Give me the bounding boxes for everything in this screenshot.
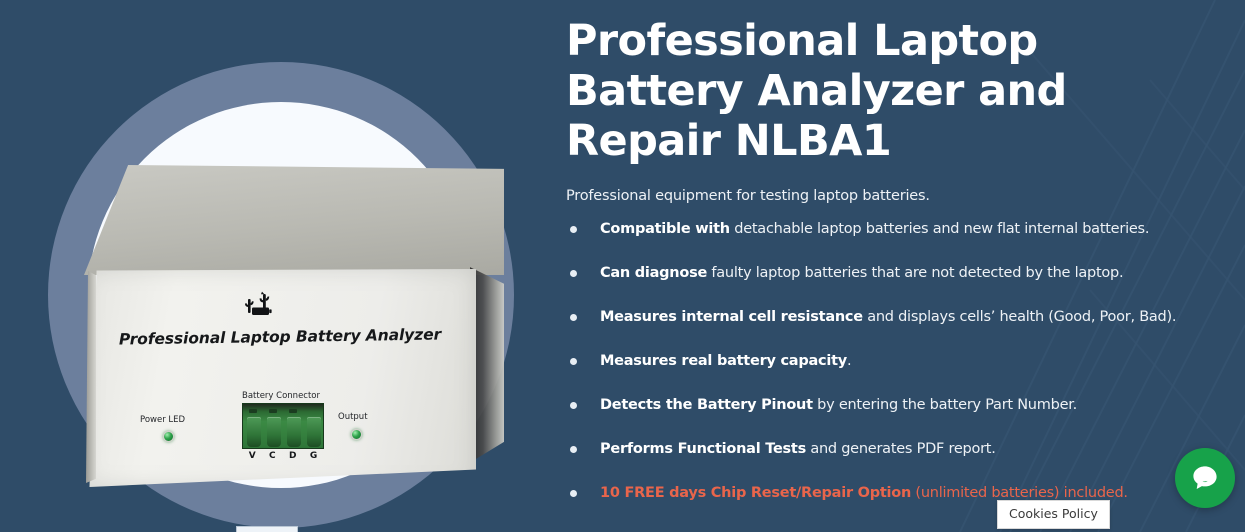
feature-strong-text: Performs Functional Tests xyxy=(600,441,806,457)
bullet-dot-icon xyxy=(570,226,577,233)
bullet-dot-icon xyxy=(570,270,577,277)
feature-rest-text: by entering the battery Part Number. xyxy=(813,397,1077,413)
bullet-dot-icon xyxy=(570,358,577,365)
pin-label-g: G xyxy=(310,451,317,461)
feature-strong-text: Can diagnose xyxy=(600,265,707,281)
bullet-dot-icon xyxy=(570,314,577,321)
product-content-column: Professional Laptop Battery Analyzer and… xyxy=(566,0,1234,532)
page-title: Professional Laptop Battery Analyzer and… xyxy=(566,16,1106,166)
product-intro-text: Professional equipment for testing lapto… xyxy=(566,188,1234,204)
output-led-indicator xyxy=(351,429,362,440)
power-led-indicator xyxy=(163,431,174,442)
feature-rest-text: (unlimited batteries) included. xyxy=(911,485,1128,501)
bullet-dot-icon xyxy=(570,446,577,453)
feature-strong-text: Compatible with xyxy=(600,221,730,237)
feature-list: Compatible with detachable laptop batter… xyxy=(566,220,1234,503)
pin-label-v: V xyxy=(249,451,256,461)
feature-strong-text: Measures internal cell resistance xyxy=(600,309,863,325)
product-hero-page: Professional Laptop Battery Analyzer Pow… xyxy=(0,0,1245,532)
bullet-dot-icon xyxy=(570,402,577,409)
bullet-dot-icon xyxy=(570,490,577,497)
feature-item: 10 FREE days Chip Reset/Repair Option (u… xyxy=(566,484,1234,503)
feature-strong-text: 10 FREE days Chip Reset/Repair Option xyxy=(600,485,911,501)
image-thumbnail-strip[interactable] xyxy=(236,526,298,532)
chat-widget-button[interactable] xyxy=(1175,448,1235,508)
device-top-face xyxy=(84,165,504,275)
cookies-policy-tooltip[interactable]: Cookies Policy xyxy=(997,500,1110,529)
battery-connector-port xyxy=(242,403,324,449)
battery-analyzer-device: Professional Laptop Battery Analyzer Pow… xyxy=(84,165,504,490)
feature-item: Compatible with detachable laptop batter… xyxy=(566,220,1234,239)
feature-rest-text: and generates PDF report. xyxy=(806,441,996,457)
connector-pin-labels: V C D G xyxy=(242,451,324,461)
pin-label-d: D xyxy=(289,451,296,461)
device-left-edge xyxy=(86,271,96,483)
cactus-battery-logo-icon xyxy=(236,291,282,325)
power-led-label: Power LED xyxy=(140,415,185,425)
chat-bubble-icon xyxy=(1190,463,1220,493)
output-label: Output xyxy=(338,412,368,422)
feature-strong-text: Measures real battery capacity xyxy=(600,353,847,369)
feature-item: Performs Functional Tests and generates … xyxy=(566,440,1234,459)
feature-item: Detects the Battery Pinout by entering t… xyxy=(566,396,1234,415)
battery-connector-label: Battery Connector xyxy=(242,391,320,401)
feature-item: Measures real battery capacity. xyxy=(566,352,1234,371)
pin-label-c: C xyxy=(269,451,276,461)
feature-strong-text: Detects the Battery Pinout xyxy=(600,397,813,413)
feature-item: Measures internal cell resistance and di… xyxy=(566,308,1234,327)
product-image-panel[interactable]: Professional Laptop Battery Analyzer Pow… xyxy=(0,0,556,532)
feature-item: Can diagnose faulty laptop batteries tha… xyxy=(566,264,1234,283)
feature-rest-text: . xyxy=(847,353,851,369)
feature-rest-text: and displays cells’ health (Good, Poor, … xyxy=(863,309,1176,325)
feature-rest-text: faulty laptop batteries that are not det… xyxy=(707,265,1123,281)
feature-rest-text: detachable laptop batteries and new flat… xyxy=(730,221,1149,237)
